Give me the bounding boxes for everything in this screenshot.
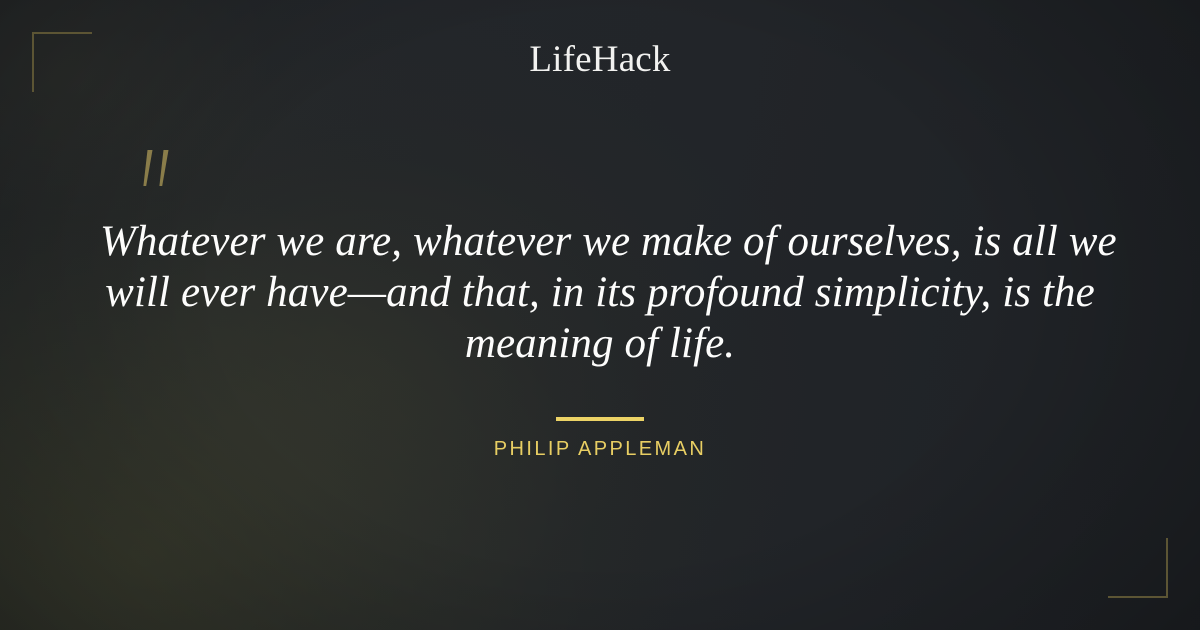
quote-text: Whatever we are, whatever we make of our… bbox=[100, 216, 1100, 369]
brand-logo: LifeHack bbox=[0, 38, 1200, 81]
quote-card: LifeHack Whatever we are, whatever we ma… bbox=[0, 0, 1200, 630]
brand-logo-text: LifeHack bbox=[529, 38, 670, 81]
double-quote-icon bbox=[133, 148, 179, 192]
quote-line: Whatever we are, whatever we make of our… bbox=[100, 216, 1100, 267]
attribution-container: PHILIP APPLEMAN bbox=[0, 438, 1200, 461]
quote-line: will ever have—and that, in its profound… bbox=[100, 267, 1100, 318]
quote-line: meaning of life. bbox=[100, 318, 1100, 369]
divider-container bbox=[0, 408, 1200, 426]
gold-divider bbox=[556, 417, 644, 421]
corner-bracket-bottom-right-icon bbox=[1108, 538, 1168, 598]
author-name: PHILIP APPLEMAN bbox=[494, 438, 706, 461]
